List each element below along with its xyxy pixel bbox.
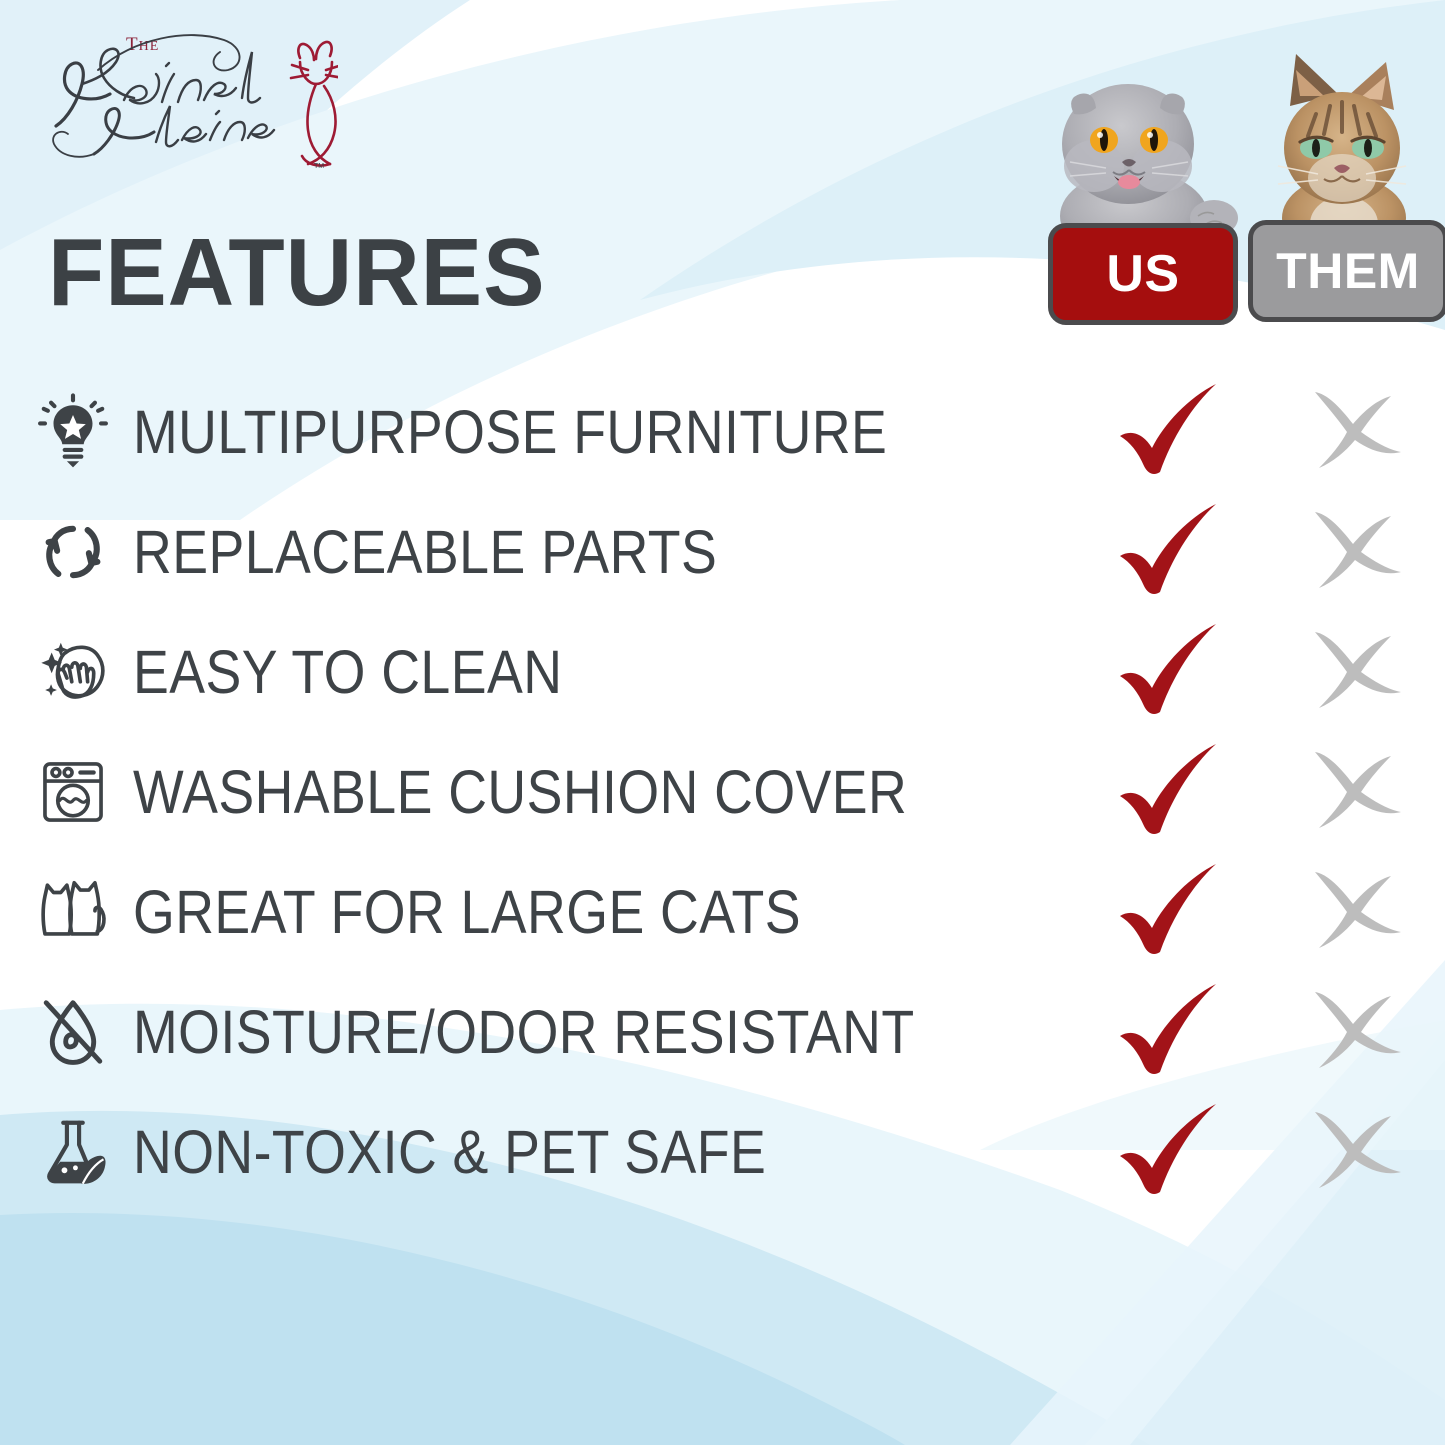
infographic-root: THE: [0, 0, 1445, 1445]
badge-us-label: US: [1106, 244, 1179, 304]
feature-label: MULTIPURPOSE FURNITURE: [133, 397, 887, 467]
gray-x-mark: [1295, 377, 1415, 487]
feature-label: GREAT FOR LARGE CATS: [133, 877, 801, 947]
gray-x-mark: [1295, 857, 1415, 967]
feature-label: EASY TO CLEAN: [133, 637, 562, 707]
cat-photo-them: [1252, 48, 1434, 243]
gray-x-mark: [1295, 497, 1415, 607]
red-check-mark: [1108, 737, 1228, 847]
red-check-mark: [1108, 977, 1228, 1087]
two-cats-icon: [30, 869, 116, 955]
red-check-mark: [1108, 1097, 1228, 1207]
comparison-header: US THEM: [1040, 48, 1445, 333]
feature-row: WASHABLE CUSHION COVER: [0, 732, 1445, 852]
brand-logo: THE: [38, 22, 338, 172]
feature-label: REPLACEABLE PARTS: [133, 517, 717, 587]
washing-machine-icon: [30, 749, 116, 835]
red-check-mark: [1108, 377, 1228, 487]
badge-them-label: THEM: [1276, 242, 1420, 300]
gray-x-mark: [1295, 977, 1415, 1087]
feature-label: MOISTURE/ODOR RESISTANT: [133, 997, 915, 1067]
gray-x-mark: [1295, 617, 1415, 727]
red-check-mark: [1108, 497, 1228, 607]
badge-us[interactable]: US: [1048, 223, 1238, 325]
no-water-drop-icon: [30, 989, 116, 1075]
gray-x-mark: [1295, 1097, 1415, 1207]
trademark-mark: TM: [314, 163, 324, 170]
badge-them[interactable]: THEM: [1248, 220, 1445, 322]
feature-label: NON-TOXIC & PET SAFE: [133, 1117, 766, 1187]
feature-row: MULTIPURPOSE FURNITURE: [0, 372, 1445, 492]
red-check-mark: [1108, 617, 1228, 727]
feature-label: WASHABLE CUSHION COVER: [133, 757, 907, 827]
wiping-hand-icon: [30, 629, 116, 715]
feature-row: NON-TOXIC & PET SAFE: [0, 1092, 1445, 1212]
recycle-arrows-icon: [30, 509, 116, 595]
feature-row: MOISTURE/ODOR RESISTANT: [0, 972, 1445, 1092]
lightbulb-star-icon: [30, 389, 116, 475]
gray-x-mark: [1295, 737, 1415, 847]
red-check-mark: [1108, 857, 1228, 967]
feature-row: EASY TO CLEAN: [0, 612, 1445, 732]
feature-row: REPLACEABLE PARTS: [0, 492, 1445, 612]
flask-leaf-icon: [30, 1109, 116, 1195]
feature-list: MULTIPURPOSE FURNITURE: [0, 372, 1445, 1212]
page-title: FEATURES: [48, 225, 546, 321]
feature-row: GREAT FOR LARGE CATS: [0, 852, 1445, 972]
